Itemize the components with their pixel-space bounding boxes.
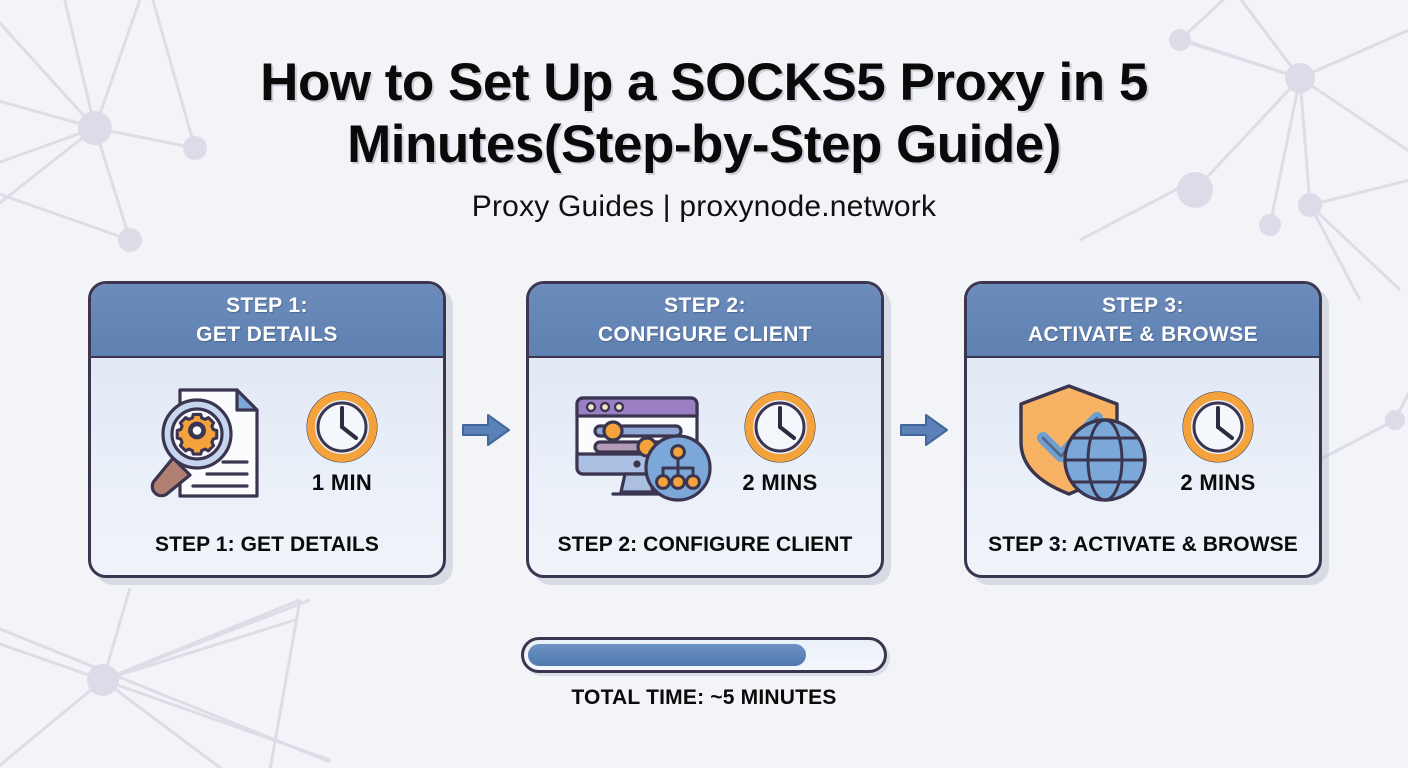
step-card-3-timer-label: 2 MINS xyxy=(1180,470,1255,496)
header: How to Set Up a SOCKS5 Proxy in 5 Minute… xyxy=(0,52,1408,224)
step-card-3-header-line2: ACTIVATE & BROWSE xyxy=(1028,320,1258,349)
total-time-section: TOTAL TIME: ~5 MINUTES xyxy=(0,637,1408,710)
step-card-2-header-line1: STEP 2: xyxy=(664,291,746,320)
arrow-2-wrap xyxy=(884,281,964,578)
step-card-1-timer-label: 1 MIN xyxy=(312,470,372,496)
step-card-1-header: STEP 1: GET DETAILS xyxy=(91,284,443,358)
step-card-3-header: STEP 3: ACTIVATE & BROWSE xyxy=(967,284,1319,358)
step-card-3-body: 2 MINS xyxy=(967,358,1319,521)
step-card-2-body: 2 MINS xyxy=(529,358,881,521)
step-card-3-header-line1: STEP 3: xyxy=(1102,291,1184,320)
document-magnifier-gear-icon xyxy=(137,376,277,508)
step-card-1-body: 1 MIN xyxy=(91,358,443,521)
progress-bar-track xyxy=(521,637,887,673)
steps-row: STEP 1: GET DETAILS xyxy=(88,281,1333,581)
step-card-2-timer: 2 MINS xyxy=(725,388,835,496)
page-title: How to Set Up a SOCKS5 Proxy in 5 Minute… xyxy=(0,52,1408,176)
step-card-2[interactable]: STEP 2: CONFIGURE CLIENT xyxy=(526,281,884,578)
progress-bar-fill xyxy=(528,644,806,666)
step-card-3-footer: STEP 3: ACTIVATE & BROWSE xyxy=(967,521,1319,575)
step-card-1-timer: 1 MIN xyxy=(287,388,397,496)
page-subtitle: Proxy Guides | proxynode.network xyxy=(0,190,1408,224)
step-card-2-footer: STEP 2: CONFIGURE CLIENT xyxy=(529,521,881,575)
arrow-right-icon xyxy=(461,411,511,449)
step-card-2-header-line2: CONFIGURE CLIENT xyxy=(598,320,812,349)
step-card-3[interactable]: STEP 3: ACTIVATE & BROWSE xyxy=(964,281,1322,578)
step-card-1-footer: STEP 1: GET DETAILS xyxy=(91,521,443,575)
total-time-label: TOTAL TIME: ~5 MINUTES xyxy=(571,686,836,710)
step-card-1[interactable]: STEP 1: GET DETAILS xyxy=(88,281,446,578)
step-card-1-header-line1: STEP 1: xyxy=(226,291,308,320)
clock-icon xyxy=(303,388,381,466)
step-card-1-header-line2: GET DETAILS xyxy=(196,320,338,349)
arrow-1-wrap xyxy=(446,281,526,578)
step-card-3-timer: 2 MINS xyxy=(1163,388,1273,496)
clock-icon xyxy=(741,388,819,466)
clock-icon xyxy=(1179,388,1257,466)
monitor-sliders-network-icon xyxy=(575,376,715,508)
step-card-2-header: STEP 2: CONFIGURE CLIENT xyxy=(529,284,881,358)
step-card-2-timer-label: 2 MINS xyxy=(742,470,817,496)
shield-check-globe-icon xyxy=(1013,376,1153,508)
arrow-right-icon xyxy=(899,411,949,449)
